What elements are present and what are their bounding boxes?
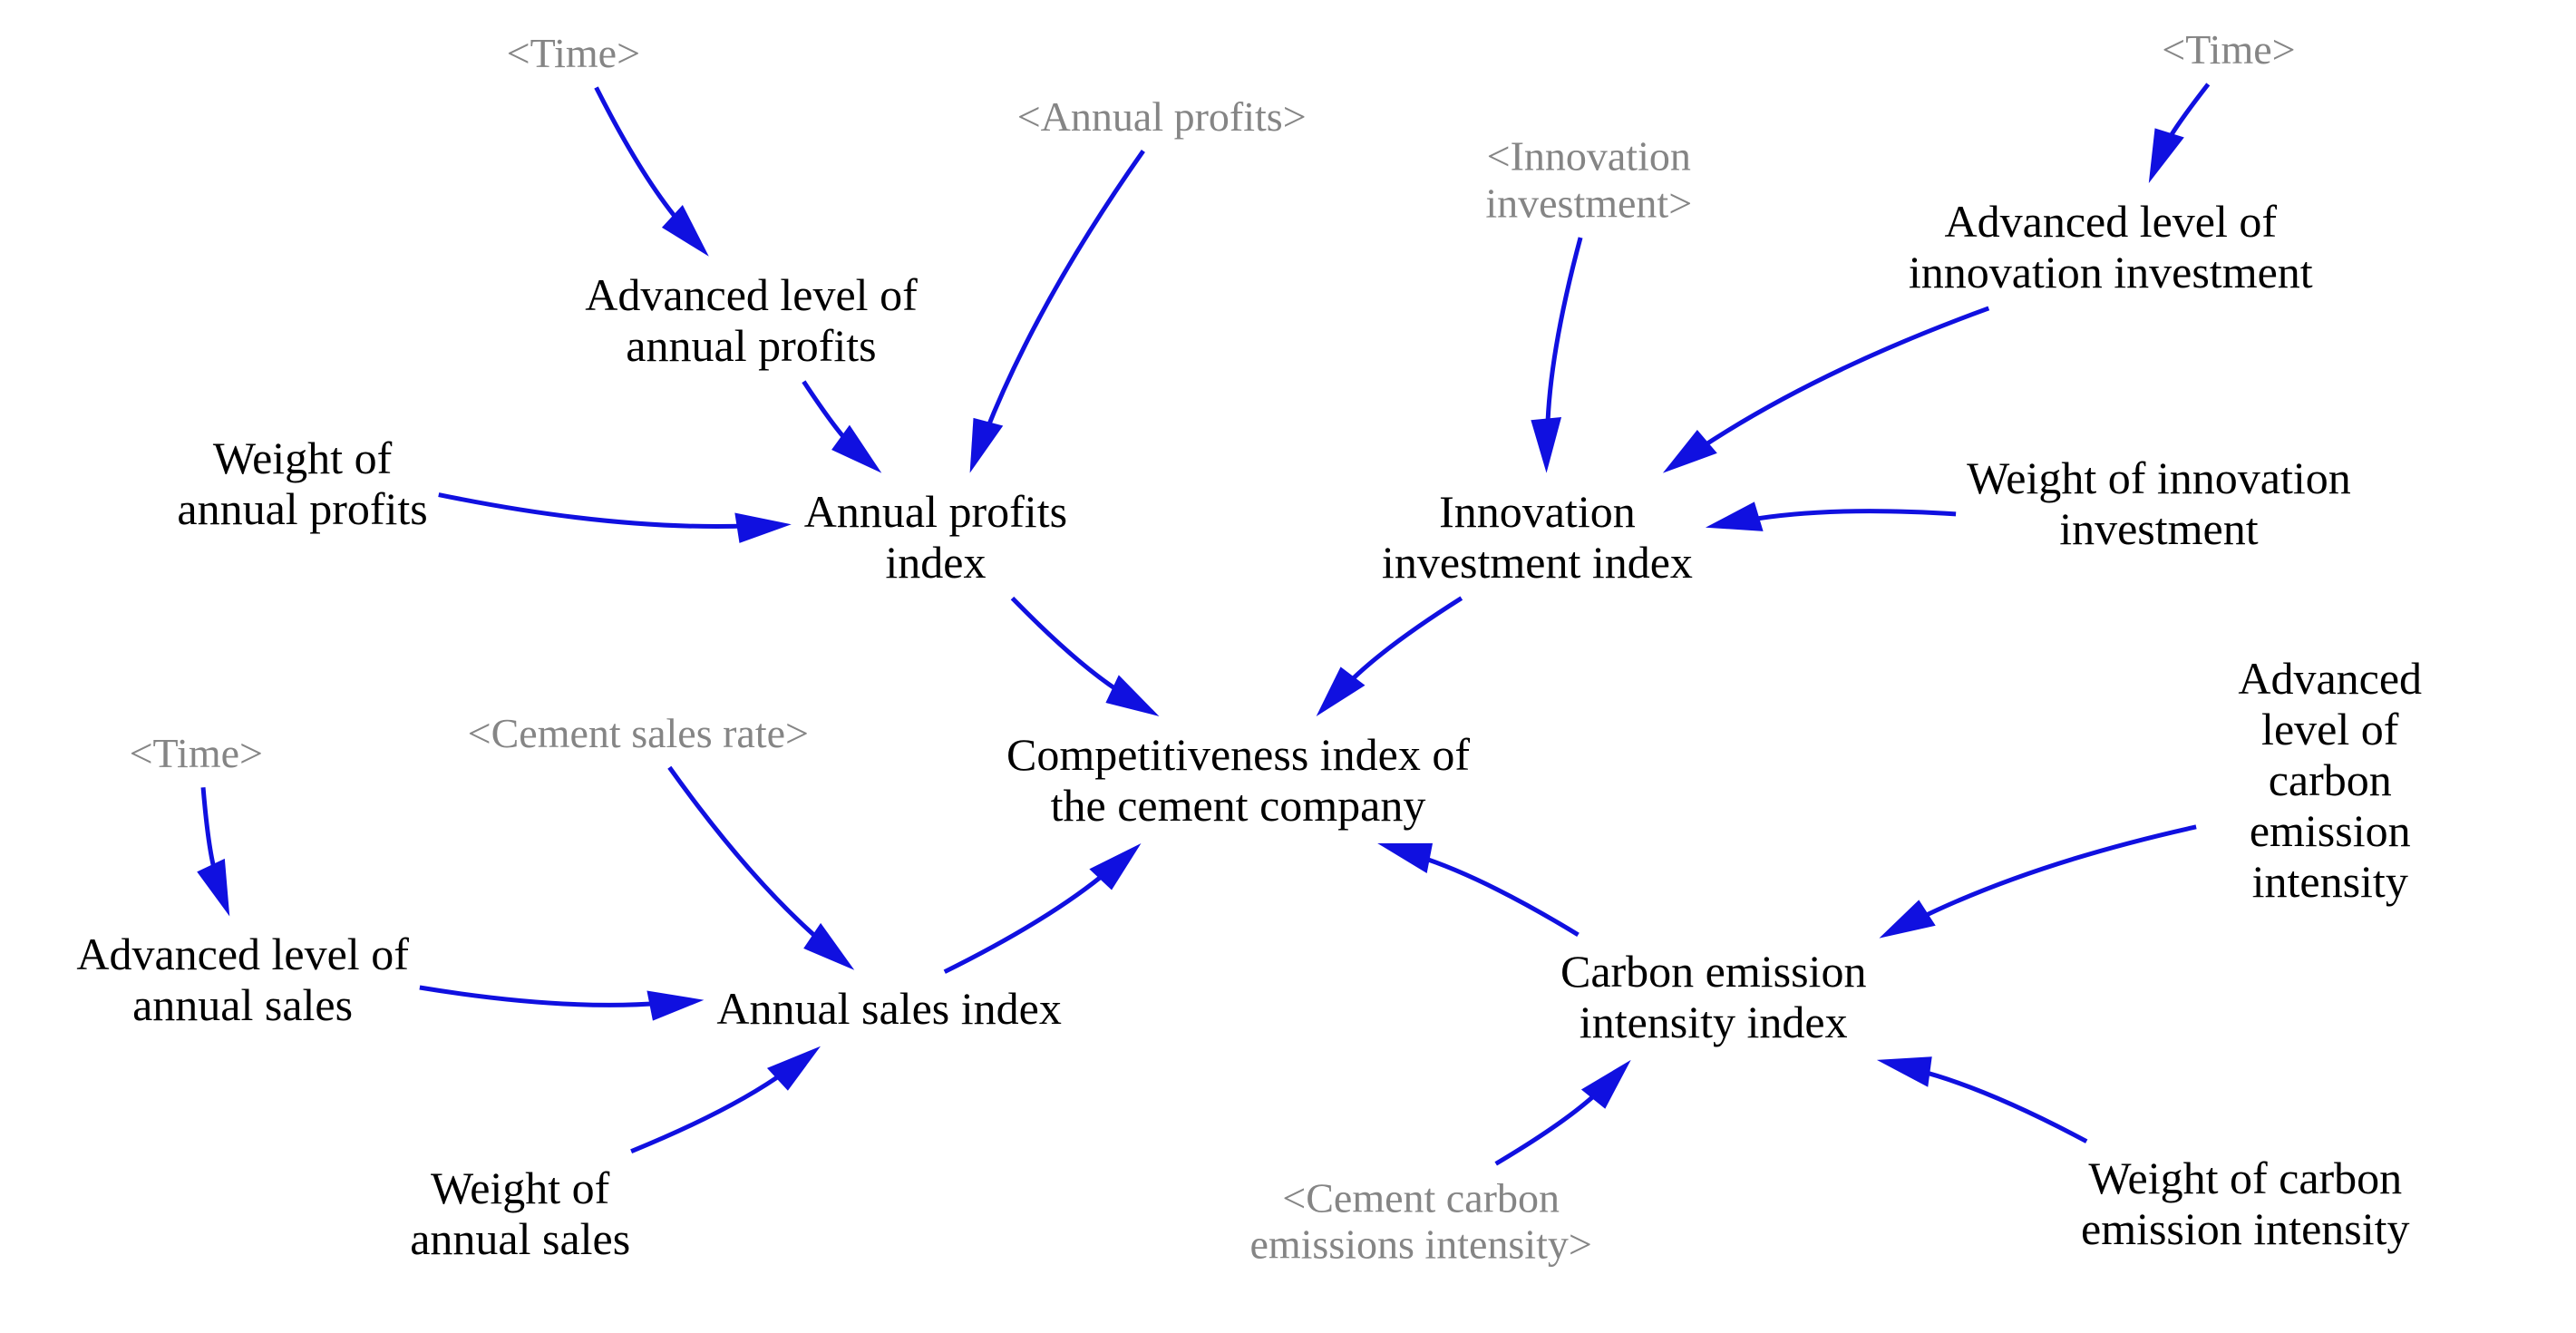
link-line [1918,1070,2086,1141]
node-carbon_index[interactable]: Carbon emission intensity index [1560,946,1866,1047]
node-annual_sales_index[interactable]: Annual sales index [716,983,1061,1034]
link-arrowhead [646,990,704,1020]
node-annual_profits_sh[interactable]: <Annual profits> [1017,93,1307,141]
causal-link-time_sales-to-adv_annual_sales[interactable] [197,787,229,916]
causal-link-annual_profits_index-to-competitiveness[interactable] [1012,598,1159,716]
node-cement_carbon_sh[interactable]: <Cement carbon emissions intensity> [1249,1174,1591,1268]
link-arrowhead [662,205,709,257]
causal-link-innovation_index-to-competitiveness[interactable] [1317,598,1462,716]
link-arrowhead [197,859,229,917]
link-line [1496,1089,1601,1163]
causal-link-weight_carbon-to-carbon_index[interactable] [1877,1056,2086,1141]
link-line [669,767,822,942]
causal-link-annual_sales_index-to-competitiveness[interactable] [945,843,1142,972]
causal-link-weight_innovation-to-innovation_index[interactable] [1706,501,1956,530]
link-arrowhead [1105,675,1159,716]
link-line [1698,308,1989,450]
node-time_innovation[interactable]: <Time> [2162,26,2295,73]
causal-link-adv_annual_profits-to-annual_profits_index[interactable] [803,382,881,473]
causal-link-adv_carbon_intensity-to-carbon_index[interactable] [1879,827,2196,939]
link-line [1548,238,1580,431]
causal-link-cement_sales_rate-to-annual_sales_index[interactable] [669,767,854,969]
node-adv_annual_sales[interactable]: Advanced level of annual sales [76,929,409,1030]
link-arrowhead [970,418,1004,473]
link-arrowhead [1706,501,1764,530]
link-arrowhead [1877,1056,1932,1087]
node-weight_annual_profits[interactable]: Weight of annual profits [177,433,427,534]
link-arrowhead [1879,900,1935,938]
link-arrowhead [1663,430,1717,473]
node-weight_carbon[interactable]: Weight of carbon emission intensity [2081,1153,2410,1254]
link-line [1417,856,1578,935]
causal-link-weight_annual_profits-to-annual_profits_index[interactable] [439,495,792,543]
link-arrowhead [734,512,791,542]
link-arrowhead [767,1046,821,1091]
causal-link-time_profits-to-adv_annual_profits[interactable] [597,88,709,257]
node-competitiveness[interactable]: Competitiveness index of the cement comp… [1006,729,1470,831]
node-weight_annual_sales[interactable]: Weight of annual sales [410,1163,630,1264]
link-line [1012,598,1123,695]
causal-link-carbon_index-to-competitiveness[interactable] [1377,843,1578,935]
link-line [945,871,1109,972]
link-arrowhead [2149,128,2184,183]
link-line [439,495,750,527]
causal-link-adv_annual_sales-to-annual_sales_index[interactable] [420,988,705,1021]
node-adv_carbon_intensity[interactable]: Advanced level of carbon emission intens… [2207,653,2453,907]
node-innovation_index[interactable]: Innovation investment index [1382,486,1693,588]
link-arrowhead [1089,843,1141,890]
link-arrowhead [1531,417,1561,473]
node-annual_profits_index[interactable]: Annual profits index [804,486,1067,588]
node-weight_innovation[interactable]: Weight of innovation investment [1967,452,2351,554]
causal-link-annual_profits_sh-to-annual_profits_index[interactable] [970,151,1143,472]
causal-link-weight_annual_sales-to-annual_sales_index[interactable] [631,1046,821,1152]
causal-loop-diagram-canvas: <Time>Advanced level of annual profits<A… [0,0,2576,1333]
node-adv_innovation_inv[interactable]: Advanced level of innovation investment [1909,196,2313,297]
link-line [203,787,217,876]
link-arrowhead [1377,843,1433,873]
node-time_profits[interactable]: <Time> [507,30,640,77]
node-innovation_inv_sh[interactable]: <Innovation investment> [1485,133,1692,227]
causal-link-adv_innovation_inv-to-innovation_index[interactable] [1663,308,1988,473]
link-line [1917,827,2196,919]
link-line [1346,598,1462,686]
link-line [597,88,682,225]
link-line [986,151,1143,433]
node-cement_sales_rate[interactable]: <Cement sales rate> [468,710,809,757]
causal-link-innovation_inv_sh-to-innovation_index[interactable] [1531,238,1580,473]
causal-link-time_innovation-to-adv_innovation_inv[interactable] [2149,84,2208,183]
link-line [631,1071,786,1152]
link-line [1747,511,1956,521]
node-adv_annual_profits[interactable]: Advanced level of annual profits [585,269,918,371]
node-time_sales[interactable]: <Time> [130,730,263,777]
causal-link-cement_carbon_sh-to-carbon_index[interactable] [1496,1060,1631,1164]
link-line [420,988,662,1005]
